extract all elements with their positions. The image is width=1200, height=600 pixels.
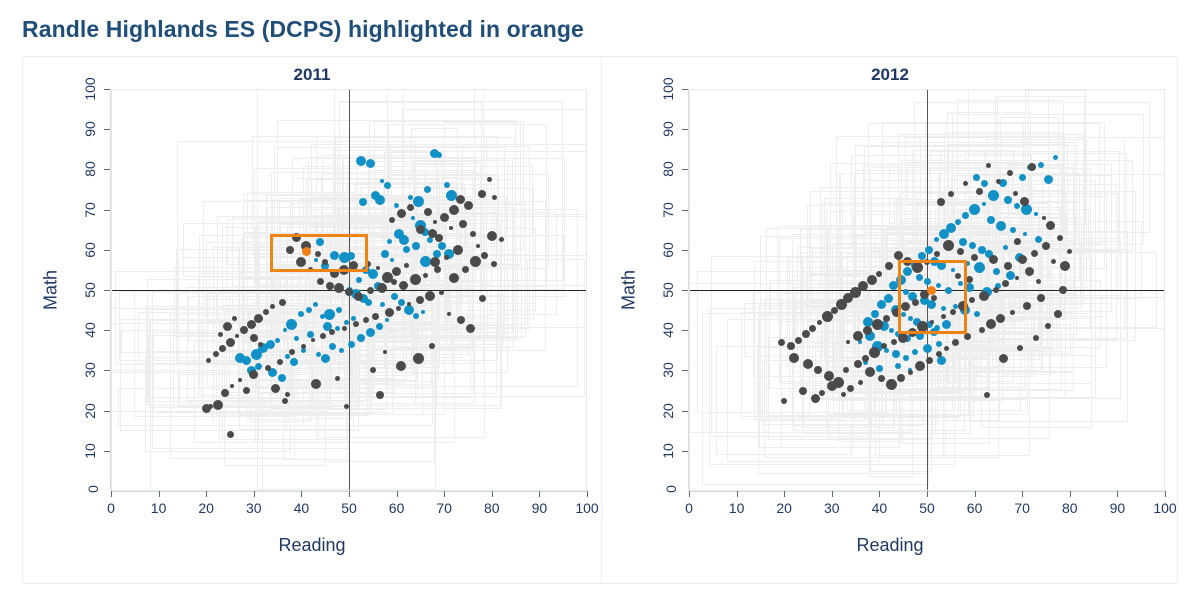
x-tick [539,491,540,497]
data-point[interactable] [403,246,410,253]
highlighted-data-point[interactable] [302,247,311,256]
data-point[interactable] [271,384,280,393]
data-point[interactable] [424,208,432,216]
data-point[interactable] [356,277,362,283]
y-tick [682,370,688,371]
data-point[interactable] [385,308,394,317]
data-point[interactable] [987,216,995,224]
data-point[interactable] [944,346,949,351]
data-point[interactable] [413,353,424,364]
data-point[interactable] [478,190,486,198]
data-point[interactable] [1023,302,1031,310]
y-tick [104,250,110,251]
data-point[interactable] [438,242,446,250]
data-point[interactable] [1018,255,1027,264]
data-point[interactable] [283,328,287,332]
x-tick [397,491,398,497]
data-point[interactable] [270,304,275,309]
x-tick [1117,491,1118,497]
data-point[interactable] [884,294,893,303]
data-point[interactable] [976,188,983,195]
y-tick [104,370,110,371]
data-point[interactable] [470,256,481,267]
x-tick-label: 100 [1153,500,1176,516]
data-point[interactable] [282,398,288,404]
highlighted-data-point[interactable] [927,286,936,295]
data-point[interactable] [279,299,286,306]
data-point[interactable] [459,220,467,228]
y-tick-label: 40 [82,322,98,338]
data-point[interactable] [811,394,820,403]
x-tick [159,491,160,497]
y-tick-label: 100 [660,77,676,100]
data-point[interactable] [939,229,949,239]
data-point[interactable] [979,327,985,333]
data-point[interactable] [434,266,441,273]
data-point[interactable] [822,311,833,322]
data-point[interactable] [375,195,385,205]
x-tick [444,491,445,497]
data-point[interactable] [819,390,825,396]
data-point[interactable] [306,307,312,313]
data-point[interactable] [363,317,369,323]
data-point[interactable] [781,398,787,404]
data-point[interactable] [424,186,431,193]
data-point[interactable] [934,251,940,257]
x-tick-label: 70 [1014,500,1030,516]
data-point[interactable] [421,310,425,314]
data-point[interactable] [858,380,863,385]
x-tick [784,491,785,497]
x-tick [879,491,880,497]
data-point[interactable] [384,182,391,189]
y-tick-label: 20 [660,403,676,419]
data-point[interactable] [1059,286,1067,294]
data-point[interactable] [413,313,419,319]
data-point[interactable] [466,324,475,333]
data-point[interactable] [984,392,990,398]
data-point[interactable] [1023,232,1027,236]
data-point[interactable] [959,238,967,246]
data-point[interactable] [955,219,961,225]
data-point[interactable] [345,288,353,296]
x-tick-label: 10 [151,500,167,516]
y-tick-label: 40 [660,322,676,338]
data-point[interactable] [247,320,256,329]
data-point[interactable] [937,198,945,206]
y-axis-line-2012 [688,89,689,491]
x-tick [349,491,350,497]
data-point[interactable] [981,180,988,187]
x-axis-title-2011: Reading [23,535,601,556]
y-tick [682,411,688,412]
data-point[interactable] [1031,250,1038,257]
data-point[interactable] [354,292,363,301]
data-point[interactable] [326,282,334,290]
data-point[interactable] [348,341,355,348]
data-point[interactable] [226,338,235,347]
data-point[interactable] [1057,235,1063,241]
data-point[interactable] [948,191,954,197]
y-tick-label: 70 [82,202,98,218]
data-point[interactable] [399,235,409,245]
y-tick-label: 30 [82,363,98,379]
data-point[interactable] [294,336,299,341]
x-tick-label: 100 [575,500,598,516]
x-tick-label: 20 [776,500,792,516]
data-point[interactable] [368,269,378,279]
y-tick-label: 90 [82,121,98,137]
data-point[interactable] [876,365,883,372]
data-point[interactable] [1053,155,1058,160]
data-point[interactable] [380,302,385,307]
data-point[interactable] [799,387,807,395]
data-point[interactable] [1044,175,1053,184]
y-tick [104,290,110,291]
data-point[interactable] [366,328,375,337]
x-tick-label: 10 [729,500,745,516]
y-tick-label: 50 [82,282,98,298]
y-tick-label: 10 [82,443,98,459]
data-point[interactable] [999,354,1008,363]
data-point[interactable] [376,266,380,270]
x-tick-label: 60 [967,500,983,516]
x-tick-label: 40 [294,500,310,516]
data-point[interactable] [464,201,473,210]
chart-page: Randle Highlands ES (DCPS) highlighted i… [0,0,1200,600]
data-point[interactable] [1054,310,1062,318]
data-point[interactable] [996,179,1001,184]
data-point[interactable] [320,333,326,339]
x-axis-title-2012: Reading [601,535,1179,556]
x-tick-label: 30 [824,500,840,516]
data-point[interactable] [470,231,476,237]
x-tick-label: 40 [872,500,888,516]
data-point[interactable] [372,313,379,320]
data-point[interactable] [365,299,372,306]
data-point[interactable] [320,314,325,319]
data-point[interactable] [814,366,822,374]
x-tick [975,491,976,497]
y-zero-label-2011: 0 [85,485,101,493]
data-point[interactable] [218,332,223,337]
panels-container: 2011 01020304050607080901001020304050607… [22,56,1178,584]
y-tick [104,411,110,412]
data-point[interactable] [275,338,280,343]
highlight-rectangle [898,260,967,334]
x-tick-label: 50 [341,500,357,516]
y-tick [682,330,688,331]
data-point[interactable] [1042,242,1050,250]
data-point[interactable] [1060,261,1070,271]
data-point[interactable] [440,213,449,222]
data-point[interactable] [996,314,1005,323]
data-point[interactable] [903,355,909,361]
y-tick [104,129,110,130]
x-tick [1165,491,1166,497]
x-tick [832,491,833,497]
data-point[interactable] [446,190,457,201]
y-tick [104,210,110,211]
x-tick-label: 80 [1062,500,1078,516]
data-point[interactable] [376,391,384,399]
data-point[interactable] [869,347,880,358]
plot-area-2012[interactable] [689,89,1165,491]
data-point[interactable] [313,302,318,307]
y-tick-label: 100 [82,77,98,100]
y-tick-label: 10 [660,443,676,459]
y-tick-label: 70 [660,202,676,218]
data-point[interactable] [397,209,406,218]
data-point[interactable] [227,431,234,438]
data-point[interactable] [996,221,1006,231]
x-tick-label: 70 [436,500,452,516]
data-point[interactable] [963,181,968,186]
plot-area-2011[interactable] [111,89,587,491]
x-tick [111,491,112,497]
data-point[interactable] [390,258,394,262]
panel-title-2011: 2011 [23,65,601,85]
y-tick [682,250,688,251]
data-point[interactable] [286,319,297,330]
x-tick-label: 50 [919,500,935,516]
x-tick-label: 0 [107,500,115,516]
y-zero-label-2012: 0 [663,485,679,493]
data-point[interactable] [329,343,336,350]
data-point[interactable] [263,309,269,315]
x-tick-label: 0 [685,500,693,516]
panel-2012: 2012 01020304050607080901001020304050607… [601,57,1179,585]
data-point[interactable] [213,400,223,410]
data-point[interactable] [1019,174,1026,181]
data-point[interactable] [255,363,262,370]
x-tick [301,491,302,497]
data-point[interactable] [1010,310,1015,315]
panel-title-2012: 2012 [601,65,1179,85]
data-point[interactable] [952,339,959,346]
y-tick-label: 90 [660,121,676,137]
data-point[interactable] [351,316,356,321]
data-point[interactable] [993,287,999,293]
data-point[interactable] [962,212,969,219]
x-tick-label: 90 [1110,500,1126,516]
y-tick-label: 50 [660,282,676,298]
x-tick-label: 90 [532,500,548,516]
data-point[interactable] [1004,262,1012,270]
y-tick-label: 20 [82,403,98,419]
data-point[interactable] [391,293,398,300]
y-tick [682,129,688,130]
data-point[interactable] [877,300,886,309]
y-tick [682,169,688,170]
data-point[interactable] [1013,191,1018,196]
data-point[interactable] [795,337,802,344]
data-point[interactable] [1042,216,1046,220]
x-tick [927,491,928,497]
y-tick-label: 60 [82,242,98,258]
x-tick [492,491,493,497]
data-point[interactable] [492,195,497,200]
y-tick-label: 30 [660,363,676,379]
data-point[interactable] [433,220,437,224]
data-point[interactable] [366,159,375,168]
data-point[interactable] [206,358,211,363]
data-point[interactable] [413,196,424,207]
x-tick [689,491,690,497]
data-point[interactable] [404,305,414,315]
data-point[interactable] [886,379,897,390]
y-axis-title-2011: Math [41,270,62,310]
data-point[interactable] [367,287,374,294]
data-point[interactable] [863,326,872,335]
data-point[interactable] [250,334,258,342]
data-point[interactable] [809,325,816,332]
x-tick [587,491,588,497]
y-tick [682,451,688,452]
data-point[interactable] [993,268,1000,275]
x-tick [1070,491,1071,497]
data-point[interactable] [457,316,465,324]
y-tick [104,169,110,170]
data-point[interactable] [862,355,869,362]
data-point[interactable] [885,262,893,270]
page-title: Randle Highlands ES (DCPS) highlighted i… [22,16,584,43]
data-point[interactable] [891,339,897,345]
data-point[interactable] [321,354,330,363]
data-point[interactable] [476,244,480,248]
y-axis-title-2012: Math [619,270,640,310]
data-point[interactable] [389,217,395,223]
data-point[interactable] [235,353,245,363]
data-point[interactable] [335,376,340,381]
data-point[interactable] [491,261,497,267]
data-point[interactable] [344,320,349,325]
data-point[interactable] [1004,196,1012,204]
data-point[interactable] [335,326,340,331]
data-point[interactable] [908,370,913,375]
y-tick [682,89,688,90]
x-tick-label: 60 [389,500,405,516]
x-tick [206,491,207,497]
data-point[interactable] [479,295,486,302]
data-point[interactable] [232,316,237,321]
data-point[interactable] [1010,227,1016,233]
data-point[interactable] [969,242,976,249]
data-point[interactable] [359,198,367,206]
y-tick [682,290,688,291]
panel-divider [601,56,602,584]
data-point[interactable] [285,392,290,397]
data-point[interactable] [223,322,232,331]
data-point[interactable] [871,310,879,318]
data-point[interactable] [449,205,459,215]
y-tick [104,330,110,331]
highlight-rectangle [270,234,368,272]
data-point[interactable] [411,216,415,220]
data-point[interactable] [439,290,444,295]
y-tick-label: 80 [660,162,676,178]
y-tick [104,89,110,90]
data-point[interactable] [487,231,497,241]
data-point[interactable] [425,291,435,301]
data-point[interactable] [316,352,321,357]
data-point[interactable] [342,326,347,331]
data-point[interactable] [883,315,890,322]
data-point[interactable] [937,356,946,365]
x-tick-label: 30 [246,500,262,516]
data-point[interactable] [398,299,405,306]
data-point[interactable] [430,257,440,267]
data-point[interactable] [926,357,933,364]
data-point[interactable] [889,328,894,333]
data-point[interactable] [381,250,389,258]
data-point[interactable] [412,242,420,250]
y-tick [104,451,110,452]
y-tick-label: 80 [82,162,98,178]
x-tick-label: 20 [198,500,214,516]
data-point[interactable] [285,354,290,359]
x-tick [737,491,738,497]
data-point[interactable] [923,344,932,353]
data-point[interactable] [221,389,229,397]
data-point[interactable] [982,202,986,206]
x-tick-label: 80 [484,500,500,516]
data-point[interactable] [449,273,459,283]
data-point[interactable] [407,302,411,306]
x-tick [254,491,255,497]
y-axis-line-2011 [110,89,111,491]
data-point[interactable] [802,330,810,338]
data-point[interactable] [487,177,492,182]
data-point[interactable] [202,404,211,413]
panel-2011: 2011 01020304050607080901001020304050607… [23,57,601,585]
x-tick [1022,491,1023,497]
y-tick-label: 60 [660,242,676,258]
data-point[interactable] [251,349,262,360]
y-tick [682,210,688,211]
data-point[interactable] [872,319,883,330]
